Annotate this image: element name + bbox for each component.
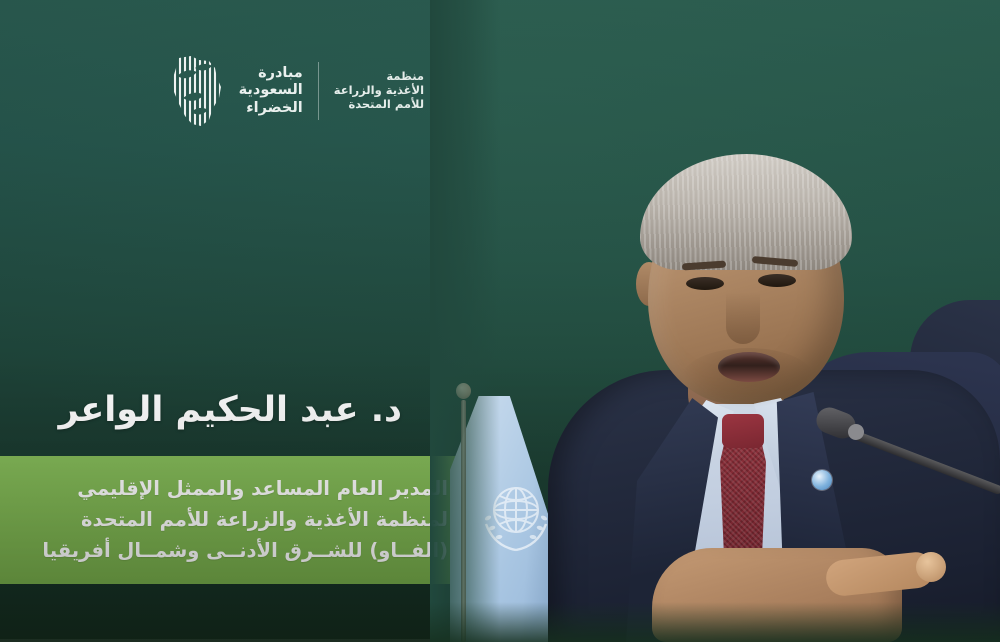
speaker-photo	[430, 0, 1000, 642]
saudi-map-striped-icon	[165, 54, 227, 128]
fao-line-1: منظمة	[334, 70, 424, 84]
un-lapel-pin-icon	[812, 470, 832, 490]
fao-line-2: الأغذية والزراعة	[334, 84, 424, 98]
presentation-card: مبادرة السعودية الخضراء منظمة الأغذية وا…	[0, 0, 1000, 642]
sgi-line-2: السعودية	[239, 82, 303, 99]
saudi-green-initiative-wordmark: مبادرة السعودية الخضراء	[239, 65, 303, 116]
speaker-title-line-2: لمنظمة الأغذية والزراعة للأمم المتحدة	[48, 505, 448, 536]
photo-bottom-fade	[430, 602, 1000, 642]
speaker-title-line-1: المدير العام المساعد والممثل الإقليمي	[48, 474, 448, 505]
sgi-line-3: الخضراء	[239, 100, 303, 117]
index-fingertip	[916, 552, 946, 582]
eye-left	[686, 277, 724, 290]
nose	[726, 292, 760, 344]
speaker-name: د. عبد الحكيم الواعر	[59, 390, 402, 430]
sgi-line-1: مبادرة	[239, 65, 303, 82]
divider-icon-1	[318, 62, 319, 120]
photo-left-fade	[430, 0, 500, 642]
fao-line-3: للأمم المتحدة	[334, 98, 424, 112]
fao-wordmark: منظمة الأغذية والزراعة للأمم المتحدة	[334, 70, 424, 111]
necktie-knot	[722, 414, 764, 448]
mouth	[718, 352, 780, 382]
speaker-title-line-3: (الفــاو) للشــرق الأدنــى وشمــال أفريق…	[48, 536, 448, 567]
eye-right	[758, 274, 796, 287]
speaker-title: المدير العام المساعد والممثل الإقليمي لم…	[48, 474, 448, 566]
logo-saudi-green-initiative: مبادرة السعودية الخضراء	[165, 40, 303, 142]
